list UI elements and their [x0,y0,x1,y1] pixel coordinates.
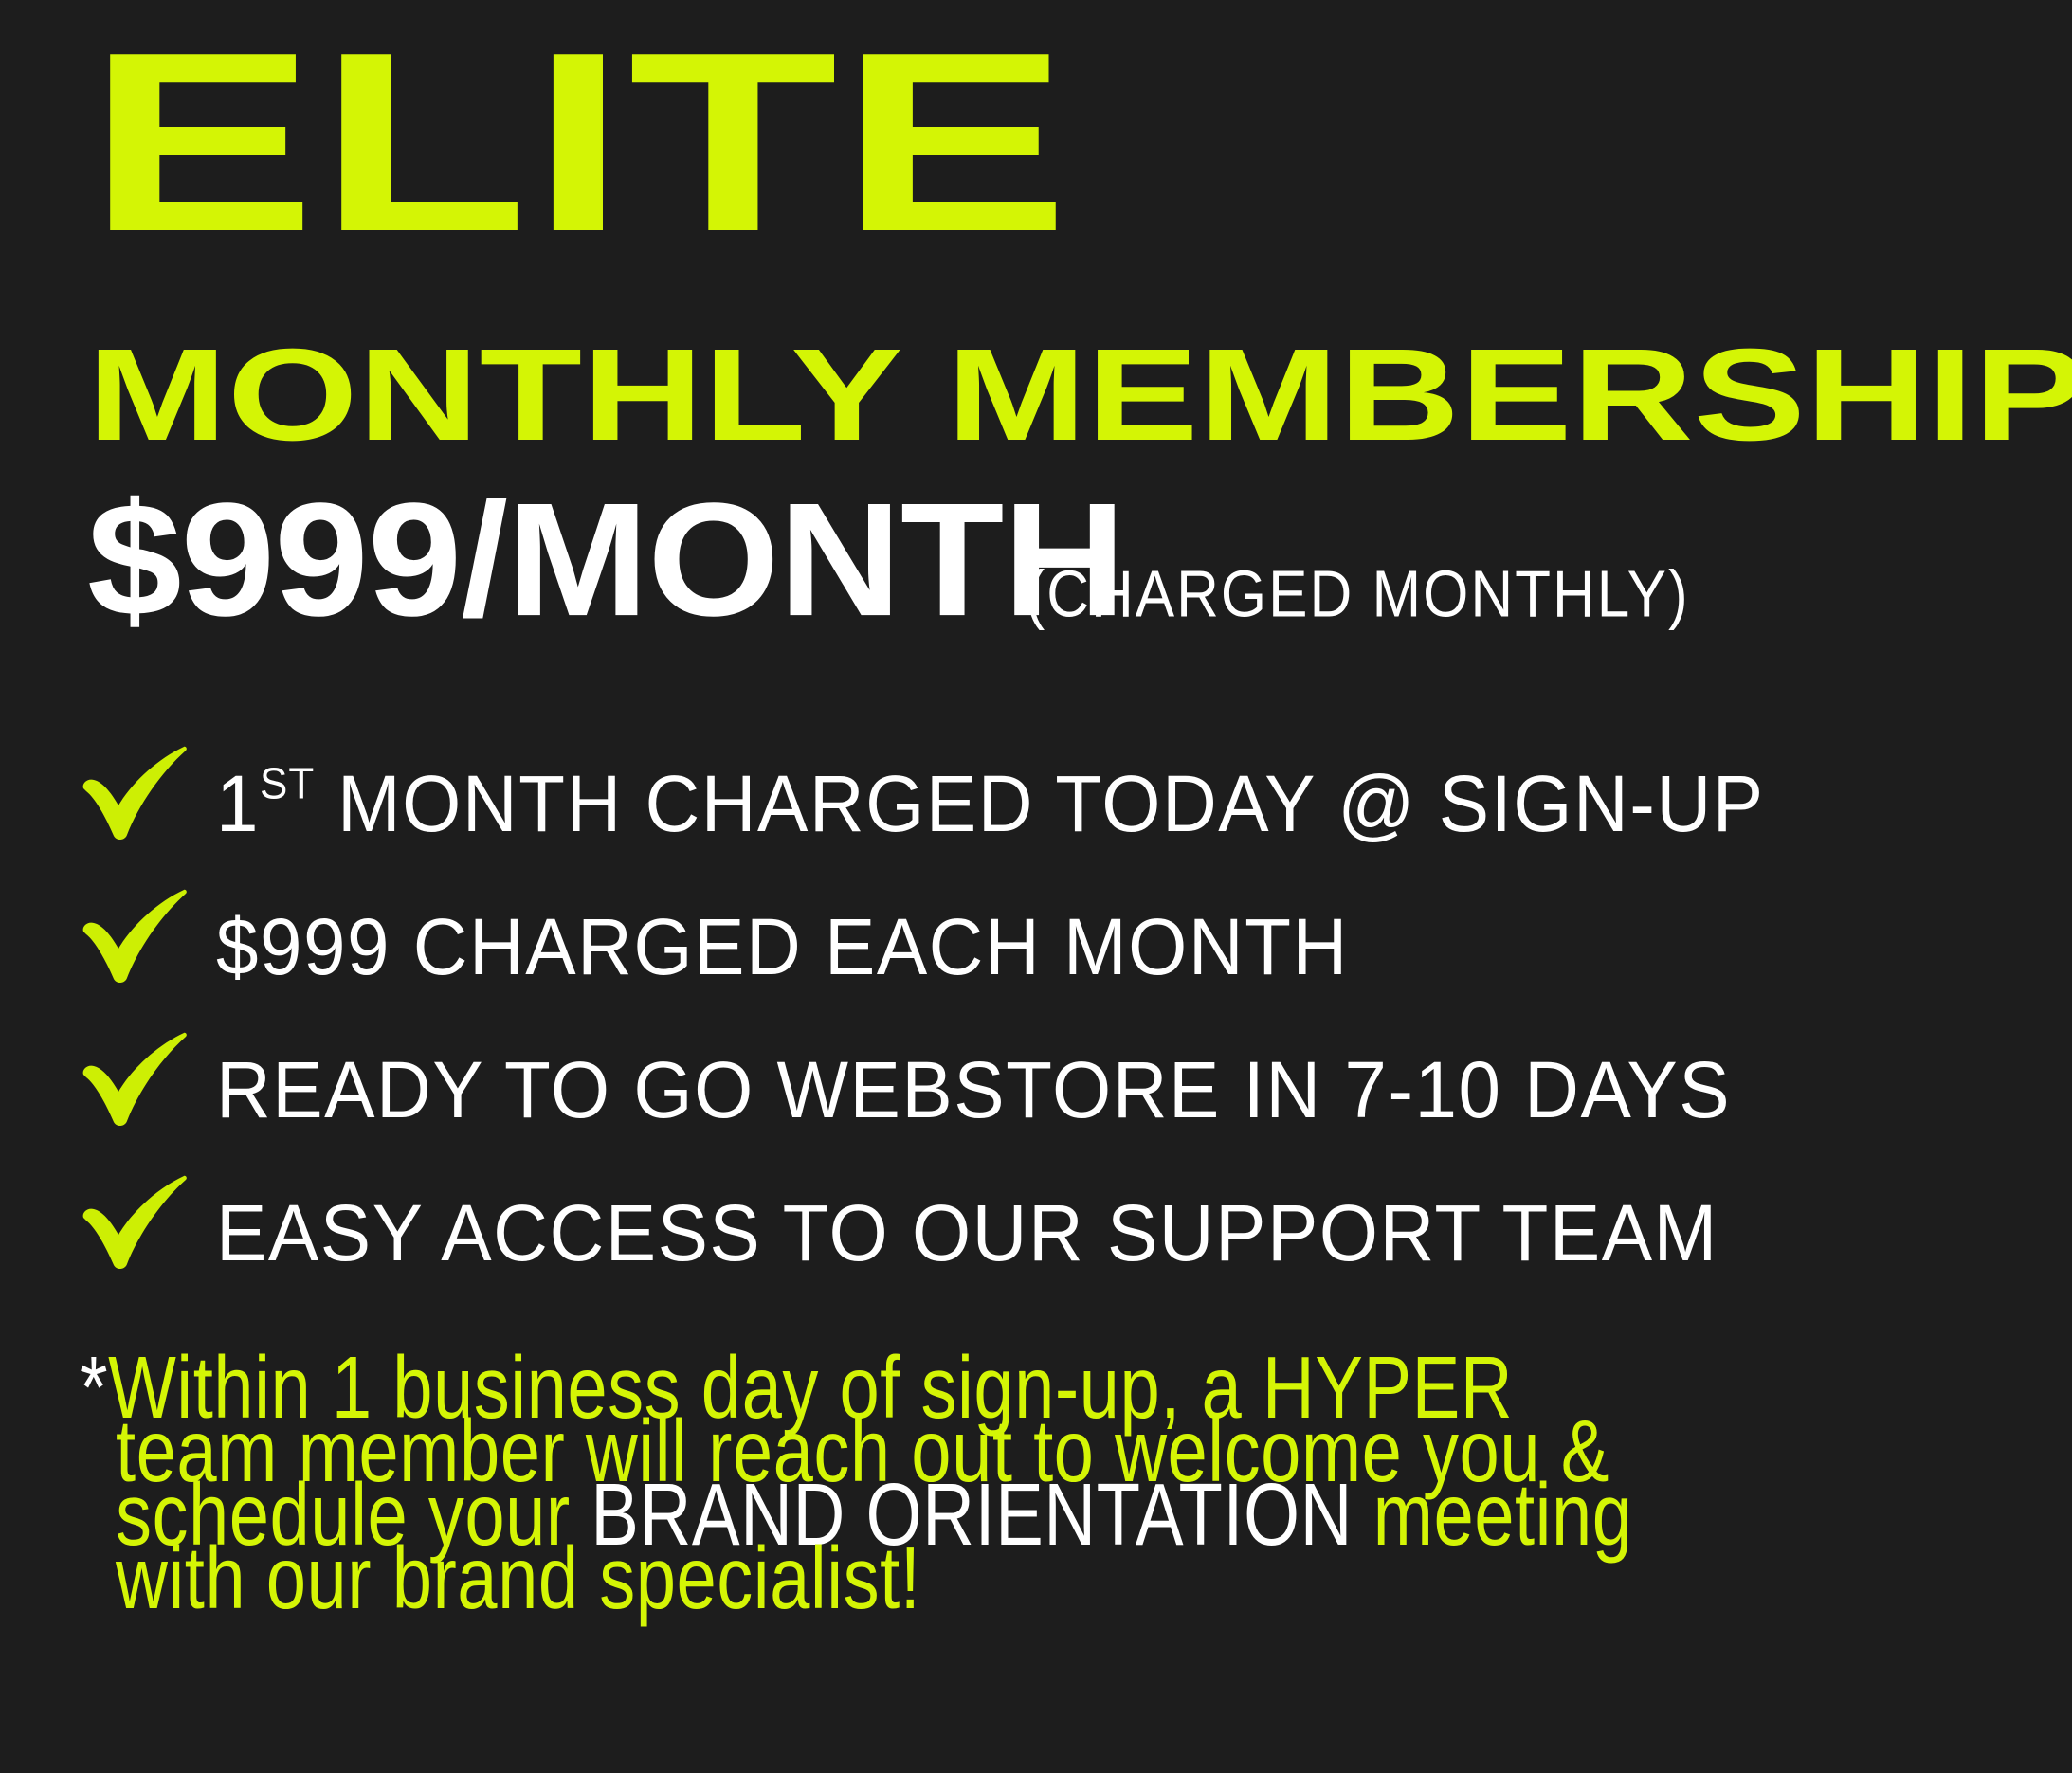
page-title-tier: ELITE [87,15,1072,271]
benefit-item: EASY ACCESS TO OUR SUPPORT TEAM [78,1161,2021,1304]
price-billing-note: (CHARGED MONTHLY) [1026,563,1690,628]
checkmark-icon [78,1172,191,1286]
page-subtitle: MONTHLY MEMBERSHIP [87,330,2072,461]
benefit-label: $999 CHARGED EACH MONTH [216,905,1349,986]
price-amount: $999/MONTH [87,479,1125,641]
price-row: $999/MONTH (CHARGED MONTHLY) [87,497,1690,641]
benefit-item: READY TO GO WEBSTORE IN 7-10 DAYS [78,1018,2021,1161]
benefit-label: 1ST MONTH CHARGED TODAY @ SIGN-UP [216,762,1765,843]
benefit-label: EASY ACCESS TO OUR SUPPORT TEAM [216,1191,1718,1273]
checkmark-icon [78,743,191,857]
benefit-label: READY TO GO WEBSTORE IN 7-10 DAYS [216,1048,1731,1130]
footnote-line-4: with our brand specialist! [80,1540,2004,1618]
membership-pricing-card: ELITE MONTHLY MEMBERSHIP $999/MONTH (CHA… [0,0,2072,1773]
footnote-disclaimer: *Within 1 business day of sign-up, a HYP… [80,1349,2004,1603]
checkmark-icon [78,1029,191,1143]
footnote-text-4: with our brand specialist! [116,1529,920,1628]
checkmark-icon [78,886,191,1000]
benefit-item: $999 CHARGED EACH MONTH [78,875,2021,1018]
benefit-item: 1ST MONTH CHARGED TODAY @ SIGN-UP [78,732,2021,875]
benefits-list: 1ST MONTH CHARGED TODAY @ SIGN-UP $999 C… [78,732,2021,1304]
